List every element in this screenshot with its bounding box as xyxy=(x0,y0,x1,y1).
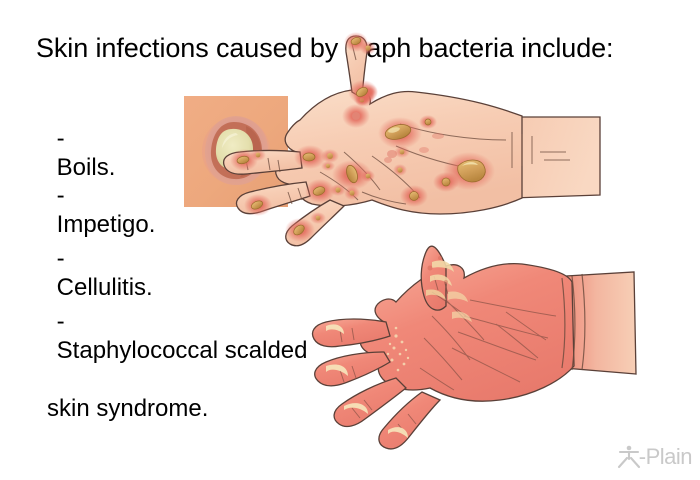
lesion xyxy=(332,160,372,190)
lesion xyxy=(387,150,397,158)
lesion xyxy=(355,94,369,106)
lesion xyxy=(294,145,326,169)
lesion xyxy=(393,164,407,176)
ssss-finger-ring xyxy=(334,378,406,426)
lesion xyxy=(433,172,459,192)
ssss-peeling-patches xyxy=(326,256,472,438)
page-title: Skin infections caused by staph bacteria… xyxy=(36,32,613,64)
lesion xyxy=(305,179,335,203)
bullet-marker: - xyxy=(57,245,72,272)
lesion xyxy=(344,186,360,200)
lesion xyxy=(378,117,422,149)
lesion xyxy=(360,84,378,100)
xplain-logo: -Plain xyxy=(616,442,692,472)
bullet-marker: - xyxy=(57,182,72,209)
lesion xyxy=(310,212,326,224)
scalded-skin-hand-illustration xyxy=(313,246,637,449)
ssss-finger-thumb xyxy=(421,246,446,310)
ssss-finger-middle xyxy=(315,352,390,386)
ssss-palm xyxy=(360,264,574,402)
lesion xyxy=(443,152,495,190)
bullet-marker: - xyxy=(57,308,72,335)
lesion xyxy=(353,89,375,107)
lesion xyxy=(285,218,315,242)
boil-closeup-image xyxy=(184,96,288,207)
impetigo-finger-little xyxy=(286,200,344,246)
lesion xyxy=(330,184,346,196)
ssss-forearm xyxy=(564,272,636,374)
ssss-palm-creases xyxy=(340,276,556,434)
list-item-scalded-skin-syndrome: - Staphylococcal scalded skin syndrome. xyxy=(30,278,308,480)
lesion xyxy=(358,90,374,102)
ssss-finger-index xyxy=(313,319,391,347)
bullet-text-line2: skin syndrome. xyxy=(30,394,308,423)
lesion xyxy=(342,104,370,128)
lesion xyxy=(361,170,375,182)
lesion xyxy=(432,133,444,139)
ssss-wrist-bands xyxy=(562,274,585,370)
lesion xyxy=(400,185,428,207)
bullet-marker: - xyxy=(57,125,72,152)
ssss-finger-little xyxy=(379,392,440,449)
lesion xyxy=(419,147,429,153)
lesion xyxy=(321,149,339,163)
figure-head xyxy=(626,446,631,451)
lesion xyxy=(363,87,375,97)
lesion xyxy=(394,146,410,158)
slide-canvas: Skin infections caused by staph bacteria… xyxy=(0,0,700,480)
lesion xyxy=(419,115,437,129)
impetigo-palm-creases xyxy=(246,44,570,204)
impetigo-forearm xyxy=(512,117,600,198)
logo-wordmark: -Plain xyxy=(639,444,692,470)
lesion xyxy=(321,161,335,171)
bullet-text: Staphylococcal scalded xyxy=(57,337,308,364)
impetigo-palm xyxy=(276,90,522,214)
lesion xyxy=(384,157,392,163)
lesion xyxy=(348,80,378,104)
